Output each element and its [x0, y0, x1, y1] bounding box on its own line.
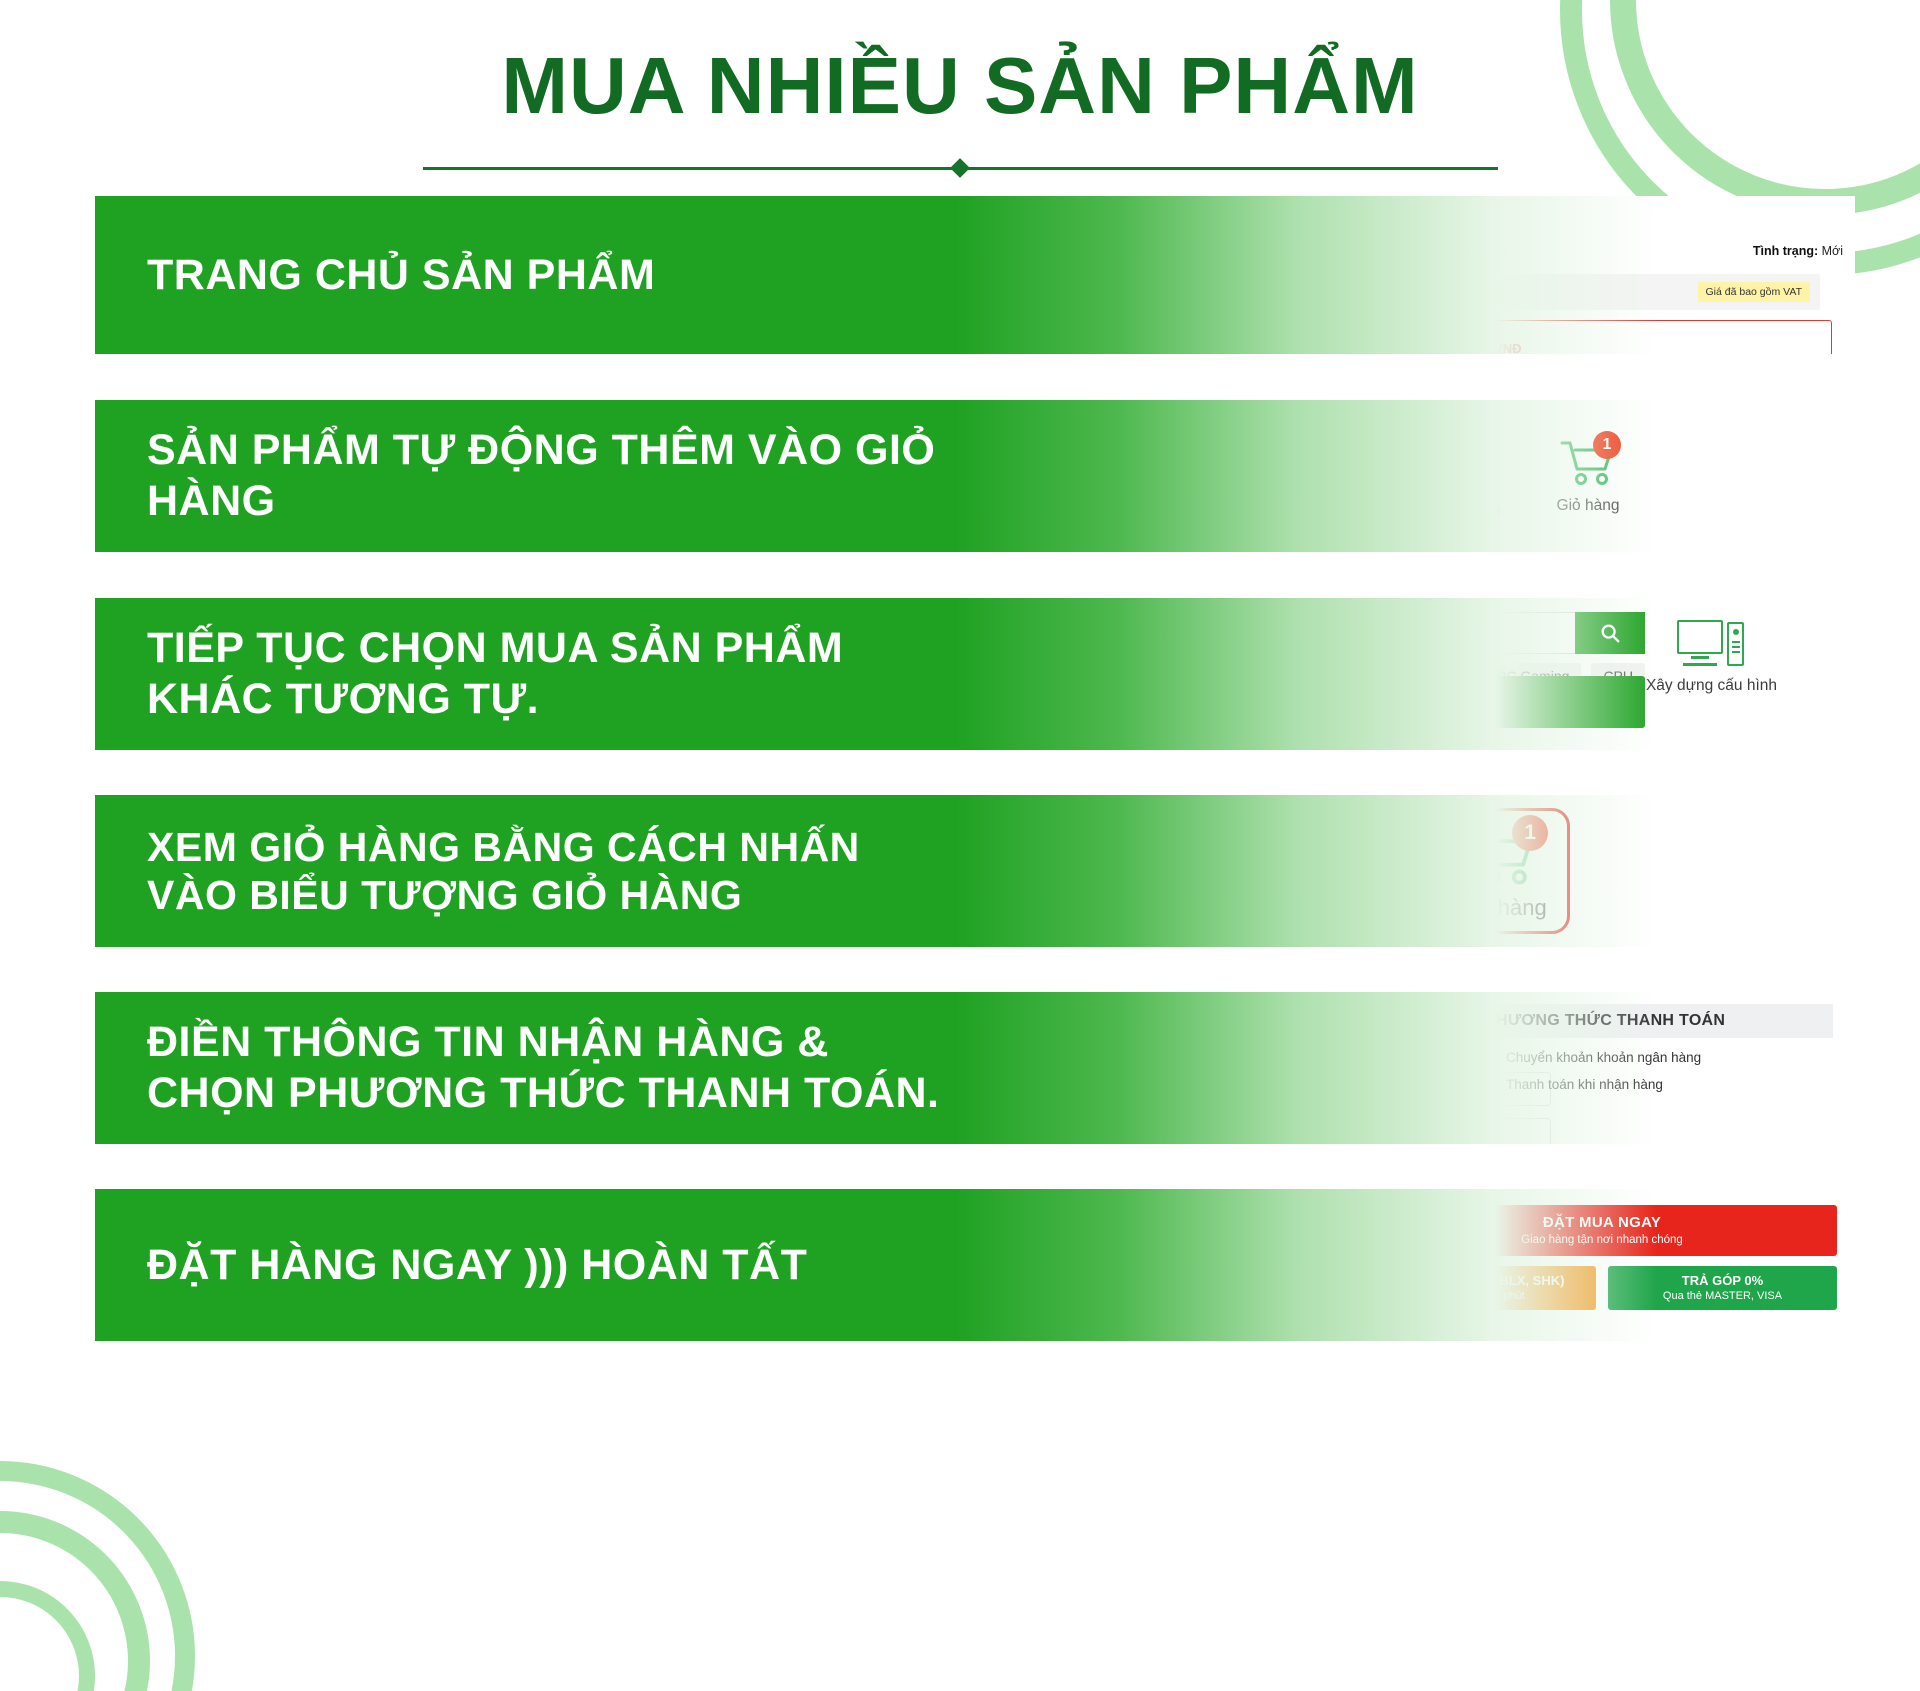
- cart-label: Giỏ hàng: [1457, 895, 1546, 921]
- phone-field[interactable]: 0987: [1099, 1118, 1551, 1144]
- hamburger-icon: [1127, 694, 1149, 711]
- order-now-title: ĐẶT MUA NGAY: [1367, 1214, 1837, 1231]
- rgb-fan-icon: [1051, 274, 1089, 312]
- step-4-banner: XEM GIỎ HÀNG BẰNG CÁCH NHẤN VÀO BIỂU TƯỢ…: [95, 795, 955, 947]
- cart-count-badge: 1: [1512, 815, 1548, 851]
- warranty-value: 36 Tháng: [1353, 246, 1408, 260]
- installment-zero-button[interactable]: TRẢ GÓP 0% Qua thẻ MASTER, VISA: [1608, 1266, 1837, 1310]
- qr-code-icon: Zalo: [1421, 432, 1481, 492]
- desktop-pc-icon: [1677, 620, 1745, 668]
- cart-label: Giỏ hàng: [1557, 497, 1620, 515]
- order-buttons-area: ĐẶT MUA NGAY Giao hàng tận nơi nhanh chó…: [1367, 1205, 1837, 1310]
- zalo-warranty-shortcut[interactable]: Zalo Zalo bảo hành: [1230, 814, 1371, 928]
- cart-icon-row: Zalo Zalo mua hàng: [955, 795, 1855, 947]
- rgb-fan-icon: [1099, 274, 1137, 312]
- desktop-pc-icon: [1087, 438, 1155, 486]
- step-6-heading: ĐẶT HÀNG NGAY ))) HOÀN TẤT: [147, 1240, 807, 1291]
- pc-fans: [1003, 274, 1137, 312]
- spec-text: NVME: 500G: [1281, 196, 1352, 212]
- payment-option-cod-label: Thanh toán khi nhận hàng: [1506, 1077, 1663, 1092]
- build-pc-shortcut[interactable]: Xây dựng cấu hình: [1646, 620, 1777, 695]
- condition-label: Tình trạng:: [1753, 244, 1818, 258]
- step-3-screenshot: Tìm... Màn Hình PC Gaming CPU DANH MỤC S…: [955, 598, 1855, 750]
- installment-zero-title: TRẢ GÓP 0%: [1608, 1273, 1837, 1288]
- hd-logo-subtext: SAISON: [1380, 1284, 1400, 1289]
- warranty-text: Bảo hành: 36 Tháng: [1293, 246, 1408, 260]
- promotion-value: 220.000 VNĐ: [1443, 341, 1521, 354]
- razer-badge-icon: RAZER: [1141, 198, 1185, 232]
- search-input[interactable]: Tìm...: [1045, 612, 1575, 654]
- zalo-warranty-label: Zalo bảo hành: [1230, 902, 1371, 928]
- check-icon: ✓: [1265, 199, 1276, 210]
- product-price: 44.909.000đ: [1269, 279, 1398, 306]
- warranty-row: Bảo hành: 36 Tháng: [1265, 243, 1685, 263]
- hd-saison-logo-icon: HD SAISON: [1377, 1271, 1403, 1291]
- step-1-screenshot: NVIDIA AMD VALORANT RAZER ✓ NVME: 500G ✓…: [955, 196, 1855, 354]
- ghost-product-top: [1065, 1203, 1275, 1253]
- phone-field-value: 0987: [1112, 1128, 1142, 1143]
- gift-box-icon: [1268, 342, 1281, 354]
- step-row-6: ĐẶT HÀNG NGAY ))) HOÀN TẤT Giao hàng tận…: [95, 1189, 1855, 1341]
- buyer-info-panel: THÔNG TIN NGƯỜI MUA Để tiếp tục đặt hàng…: [1011, 1004, 1551, 1144]
- promotion-text: GÓI QUÀ: TỔNG TRỊ GIÁ: [1287, 341, 1437, 354]
- step-5-heading: ĐIỀN THÔNG TIN NHẬN HÀNG & CHỌN PHƯƠNG T…: [147, 1017, 955, 1118]
- zalo-buy-shortcut[interactable]: Zalo Zalo mua hàng: [1242, 432, 1345, 520]
- payment-method-panel: PHƯƠNG THỨC THANH TOÁN Chuyển khoản khoả…: [1473, 1004, 1833, 1092]
- page-title-block: MUA NHIỀU SẢN PHẨM: [0, 44, 1920, 178]
- utility-icon-row: Xây dựng cấu hình: [955, 400, 1855, 552]
- product-category-button[interactable]: DANH MỤC SẢN PHẨM: [1105, 676, 1645, 728]
- step-2-screenshot: Xây dựng cấu hình: [955, 400, 1855, 552]
- rgb-fan-icon: [1003, 274, 1041, 312]
- installment-hd-button[interactable]: HD SAISON TRẢ GÓP (CMT, BLX, SHK) Xét du…: [1367, 1266, 1596, 1310]
- condition-text: Tình trạng: Mới: [1753, 244, 1843, 258]
- condition-value: Mới: [1822, 244, 1843, 258]
- cart-shortcut[interactable]: 1 Giỏ hàng: [1557, 437, 1620, 515]
- step-6-banner: ĐẶT HÀNG NGAY ))) HOÀN TẤT: [95, 1189, 955, 1341]
- search-button[interactable]: [1575, 612, 1645, 654]
- cart-shortcut-highlighted[interactable]: 1 Giỏ hàng: [1434, 808, 1569, 934]
- buyer-info-note: Để tiếp tục đặt hàng, quý khách xin vui …: [1015, 1048, 1551, 1062]
- step-2-banner: SẢN PHẨM TỰ ĐỘNG THÊM VÀO GIỎ HÀNG: [95, 400, 955, 552]
- decorative-ring-bottom-left-3: [0, 1581, 95, 1691]
- build-pc-label: Xây dựng cấu hình: [1646, 677, 1777, 695]
- form-row-phone: SĐT* 0987: [1011, 1118, 1551, 1144]
- order-now-subtitle: Giao hàng tận nơi nhanh chóng: [1367, 1234, 1837, 1246]
- page-title: MUA NHIỀU SẢN PHẨM: [0, 44, 1920, 128]
- payment-method-title: PHƯƠNG THỨC THANH TOÁN: [1473, 1004, 1833, 1038]
- step-3-banner: TIẾP TỤC CHỌN MUA SẢN PHẨM KHÁC TƯƠNG TỰ…: [95, 598, 955, 750]
- installment-hd-subtitle: Xét duyệt 15 phút: [1367, 1290, 1596, 1302]
- order-now-button[interactable]: ĐẶT MUA NGAY Giao hàng tận nơi nhanh chó…: [1367, 1205, 1837, 1256]
- diamond-icon: [950, 158, 970, 178]
- buyer-info-title: THÔNG TIN NGƯỜI MUA: [1011, 1004, 1551, 1038]
- cart-count-badge: 1: [1593, 431, 1621, 459]
- warranty-label: Bảo hành:: [1293, 246, 1350, 260]
- amd-badge-icon: AMD: [1021, 198, 1065, 232]
- step-row-5: ĐIỀN THÔNG TIN NHẬN HÀNG & CHỌN PHƯƠNG T…: [95, 992, 1855, 1144]
- qr-code-icon: Zalo: [1261, 814, 1339, 892]
- promotion-box: ✿ Khuyến mãi GÓI QUÀ: TỔNG TRỊ GIÁ 220.0…: [1257, 320, 1832, 354]
- step-row-1: TRANG CHỦ SẢN PHẨM NVIDIA AMD VALORANT R…: [95, 196, 1855, 354]
- nvidia-badge-icon: NVIDIA: [961, 198, 1005, 232]
- radio-unselected-icon: [1479, 1078, 1492, 1091]
- phone-field-label: SĐT*: [1011, 1128, 1081, 1143]
- vat-note: Giá đã bao gồm VAT: [1698, 282, 1811, 302]
- promotion-line: GÓI QUÀ: TỔNG TRỊ GIÁ 220.000 VNĐ: [1268, 341, 1821, 354]
- step-4-screenshot: Zalo Zalo mua hàng: [955, 795, 1855, 947]
- radio-selected-icon: [1479, 1051, 1492, 1064]
- zalo-buy-label: Zalo mua hàng: [1242, 502, 1345, 520]
- form-row-name: Họ tên*: [1011, 1072, 1551, 1106]
- search-icon: [1599, 622, 1621, 644]
- promotion-tag-label: Khuyến mãi: [1278, 323, 1338, 335]
- zalo-warranty-label: Zalo bảo hành: [1401, 502, 1500, 520]
- zalo-buy-shortcut[interactable]: Zalo Zalo mua hàng: [1019, 814, 1166, 928]
- payment-option-cod[interactable]: Thanh toán khi nhận hàng: [1479, 1077, 1833, 1092]
- spec-item: ✓ VGA: RTX 5070 12G: [1265, 215, 1685, 231]
- promotion-tag: ✿ Khuyến mãi: [1257, 320, 1351, 339]
- installment-buttons: HD SAISON TRẢ GÓP (CMT, BLX, SHK) Xét du…: [1367, 1266, 1837, 1310]
- build-pc-label: Xây dựng cấu hình: [1055, 496, 1186, 514]
- medal-icon: [1265, 243, 1285, 263]
- shopping-cart-icon: 1: [1559, 437, 1617, 487]
- gift-icon: ✿: [1265, 323, 1274, 335]
- infographic-page: MUA NHIỀU SẢN PHẨM TRANG CHỦ SẢN PHẨM NV…: [0, 0, 1920, 1691]
- step-3-heading: TIẾP TỤC CHỌN MUA SẢN PHẨM KHÁC TƯƠNG TỰ…: [147, 623, 955, 724]
- spec-item: ✓ NVME: 500G: [1265, 196, 1685, 212]
- shopping-cart-icon: 1: [1464, 825, 1540, 887]
- installment-zero-subtitle: Qua thẻ MASTER, VISA: [1608, 1290, 1837, 1302]
- qr-code-icon: Zalo: [1264, 432, 1324, 492]
- brand-badges: NVIDIA AMD VALORANT RAZER: [961, 198, 1185, 232]
- payment-option-bank-label: Chuyển khoản khoản ngân hàng: [1506, 1050, 1701, 1065]
- step-5-screenshot: THÔNG TIN NGƯỜI MUA Để tiếp tục đặt hàng…: [955, 992, 1855, 1144]
- zalo-buy-label: Zalo mua hàng: [1019, 902, 1166, 928]
- decorative-ring-bottom-left-2: [0, 1461, 195, 1691]
- zalo-warranty-shortcut[interactable]: Zalo Zalo bảo hành: [1401, 432, 1500, 520]
- step-6-screenshot: Giao hàng tận nơi ĐẶT MUA NGAY Giao hàng…: [955, 1189, 1855, 1341]
- payment-option-bank[interactable]: Chuyển khoản khoản ngân hàng: [1479, 1050, 1833, 1065]
- step-row-2: SẢN PHẨM TỰ ĐỘNG THÊM VÀO GIỎ HÀNG Xây d…: [95, 400, 1855, 552]
- name-field-label: Họ tên*: [1011, 1082, 1081, 1097]
- spec-text: VGA: RTX 5070 12G: [1281, 215, 1393, 231]
- price-bar: 44.909.000đ Giá đã bao gồm VAT: [1265, 274, 1820, 310]
- product-specs: ✓ NVME: 500G ✓ VGA: RTX 5070 12G Bảo hàn…: [1265, 196, 1685, 263]
- step-5-banner: ĐIỀN THÔNG TIN NHẬN HÀNG & CHỌN PHƯƠNG T…: [95, 992, 955, 1144]
- step-1-banner: TRANG CHỦ SẢN PHẨM: [95, 196, 955, 354]
- qr-code-icon: Zalo: [1053, 814, 1131, 892]
- build-pc-shortcut[interactable]: Xây dựng cấu hình: [1055, 438, 1186, 514]
- search-box[interactable]: Tìm...: [1045, 612, 1645, 654]
- valorant-badge-icon: VALORANT: [1081, 198, 1125, 232]
- decorative-ring-bottom-left-1: [0, 1511, 150, 1691]
- step-1-heading: TRANG CHỦ SẢN PHẨM: [147, 250, 655, 301]
- product-category-label: DANH MỤC SẢN PHẨM: [1161, 690, 1398, 714]
- step-row-4: XEM GIỎ HÀNG BẰNG CÁCH NHẤN VÀO BIỂU TƯỢ…: [95, 795, 1855, 947]
- step-2-heading: SẢN PHẨM TỰ ĐỘNG THÊM VÀO GIỎ HÀNG: [147, 425, 955, 526]
- step-4-heading: XEM GIỎ HÀNG BẰNG CÁCH NHẤN VÀO BIỂU TƯỢ…: [147, 823, 955, 920]
- check-icon: ✓: [1265, 218, 1276, 229]
- ghost-caption: Giao hàng tận nơi: [1050, 1301, 1138, 1313]
- step-row-3: TIẾP TỤC CHỌN MUA SẢN PHẨM KHÁC TƯƠNG TỰ…: [95, 598, 1855, 750]
- title-divider: [423, 158, 1498, 178]
